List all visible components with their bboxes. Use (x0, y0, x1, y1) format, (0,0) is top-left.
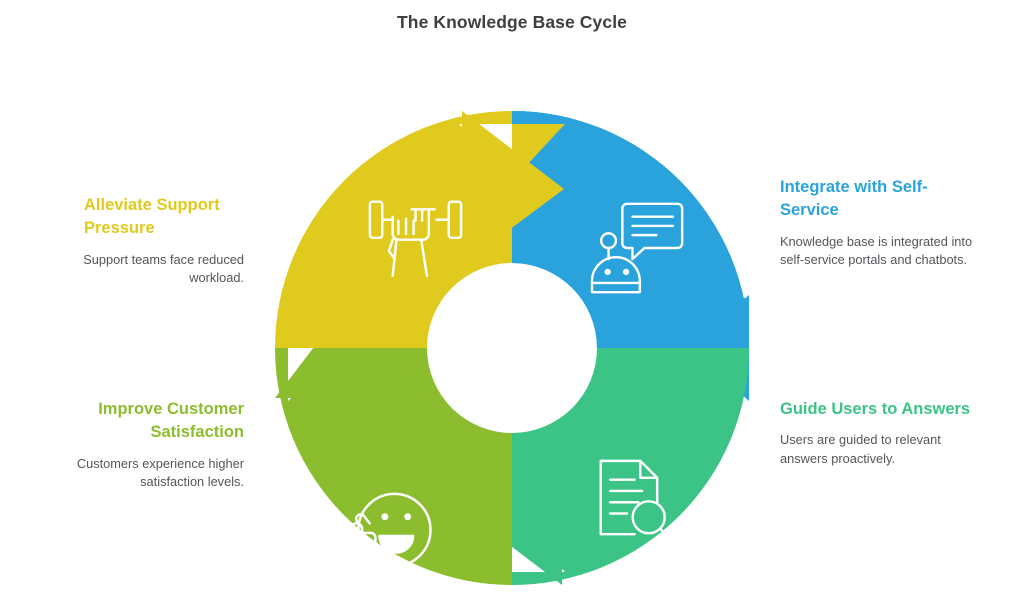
callout-body: Users are guided to relevant answers pro… (780, 431, 978, 468)
callout-heading: Guide Users to Answers (780, 398, 978, 421)
callout-heading: Improve Customer Satisfaction (46, 398, 244, 445)
callout-body: Knowledge base is integrated into self-s… (780, 233, 978, 270)
callout-heading: Alleviate Support Pressure (46, 194, 244, 241)
callout-guide-users-answers: Guide Users to Answers Users are guided … (780, 398, 978, 468)
page-title: The Knowledge Base Cycle (0, 12, 1024, 33)
cycle-diagram (262, 84, 762, 614)
callout-integrate-self-service: Integrate with Self-Service Knowledge ba… (780, 176, 978, 269)
callout-heading: Integrate with Self-Service (780, 176, 978, 223)
callout-body: Support teams face reduced workload. (46, 251, 244, 288)
callout-body: Customers experience higher satisfaction… (46, 455, 244, 492)
infographic-canvas: The Knowledge Base Cycle (0, 0, 1024, 614)
callout-alleviate-support-pressure: Alleviate Support Pressure Support teams… (46, 194, 244, 287)
callout-improve-customer-satisfaction: Improve Customer Satisfaction Customers … (46, 398, 244, 491)
